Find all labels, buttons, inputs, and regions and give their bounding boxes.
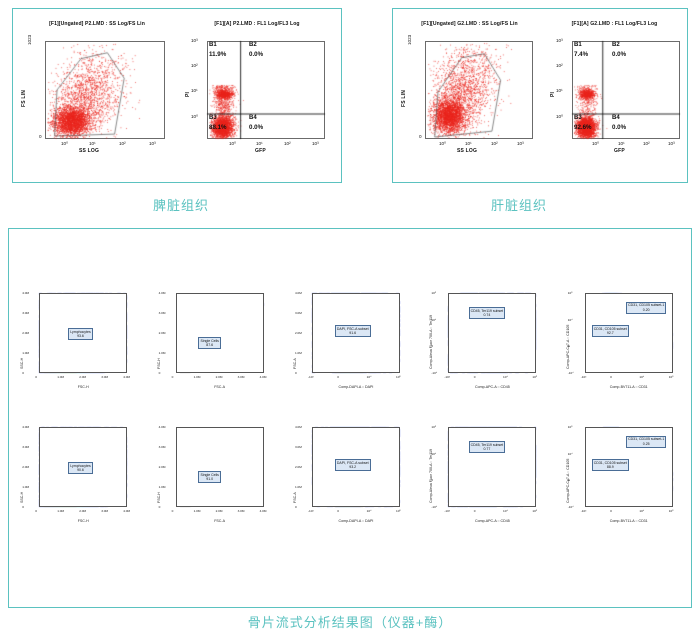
bone-chip-plot: -10³010⁴10⁵01.0M2.0M3.0M4.0MComp-DAPI-A … bbox=[290, 287, 410, 395]
quadrant-value-b1: 7.4% bbox=[574, 51, 588, 58]
gate-stat-box: Lymphocytes90.6 bbox=[68, 462, 93, 474]
y-axis-label: Comp-APC-Cy7-A :: CD105 bbox=[566, 325, 570, 369]
y-tick: 0 bbox=[22, 505, 24, 509]
y-axis-label: PI bbox=[550, 92, 556, 97]
x-tick: 4.0M bbox=[123, 375, 130, 379]
plot-spleen-quadrant: [F1][A] P2.LMD : FL1 Log/FL3 Log 10³ 10²… bbox=[177, 15, 337, 178]
x-tick: 10⁰ bbox=[592, 141, 599, 147]
y-tick: 3.0M bbox=[22, 311, 29, 315]
caption-liver: 肝脏组织 bbox=[350, 195, 688, 214]
x-tick: 10⁵ bbox=[396, 509, 401, 513]
y-tick: 2.0M bbox=[295, 465, 302, 469]
y-axis-label: FSC-A bbox=[293, 492, 297, 503]
y-tick: 10² bbox=[191, 63, 198, 68]
y-axis-label: FSC-H bbox=[157, 358, 161, 369]
x-tick: 10² bbox=[119, 141, 126, 146]
x-tick: 2.0M bbox=[216, 375, 223, 379]
bone-chip-plot: -10³010⁴10⁵-10⁴010⁴10⁵Comp-BV711-A :: CD… bbox=[563, 287, 683, 395]
bone-chip-plot: 01.0M2.0M3.0M4.0M01.0M2.0M3.0M4.0MFSC-AF… bbox=[154, 421, 274, 529]
plot-title: [F1][A] P2.LMD : FL1 Log/FL3 Log bbox=[177, 21, 337, 27]
bone-chip-plot: -10³010⁴10⁵-10⁴010⁴10⁵Comp-APC-A :: CD45… bbox=[426, 287, 546, 395]
x-tick: 10⁵ bbox=[669, 509, 674, 513]
y-tick: 1.0M bbox=[159, 485, 166, 489]
y-tick: 2.0M bbox=[22, 331, 29, 335]
y-tick: 10³ bbox=[191, 38, 198, 43]
bone-chip-plot: 01.0M2.0M3.0M4.0M01.0M2.0M3.0M4.0MFSC-HS… bbox=[17, 421, 137, 529]
gate-stat-box: DAPI, FSC-A subset91.6 bbox=[335, 325, 371, 337]
x-tick: 10² bbox=[643, 141, 650, 146]
x-tick: 4.0M bbox=[260, 509, 267, 513]
y-tick: -10⁴ bbox=[568, 505, 574, 509]
y-tick: 0 bbox=[419, 134, 422, 139]
y-tick: 4.0M bbox=[159, 425, 166, 429]
gate-stat-box: CD31, CD105 subset92.7 bbox=[592, 325, 629, 337]
x-tick: 0 bbox=[35, 509, 37, 513]
y-tick: 0 bbox=[295, 505, 297, 509]
quadrant-value-b2: 0.0% bbox=[612, 51, 626, 58]
quadrant-value-b4: 0.0% bbox=[249, 124, 263, 131]
x-axis-label: FSC-H bbox=[39, 385, 127, 389]
gate-value: 90.6 bbox=[77, 468, 84, 472]
x-tick: 4.0M bbox=[123, 509, 130, 513]
y-tick: 10⁴ bbox=[568, 452, 573, 456]
y-tick: 10⁰ bbox=[556, 114, 563, 120]
quadrant-value-b3: 92.6% bbox=[574, 124, 592, 131]
y-axis-label: Comp-APC-Cy7-A :: CD105 bbox=[566, 459, 570, 503]
x-tick: 10⁰ bbox=[439, 141, 446, 147]
plot-title: [F1][Ungated] G2.LMD : SS Log/FS Lin bbox=[397, 21, 542, 27]
plot-frame bbox=[176, 293, 264, 373]
quadrant-value-b2: 0.0% bbox=[249, 51, 263, 58]
y-tick: 1023 bbox=[27, 35, 32, 45]
x-axis-label: FSC-A bbox=[176, 385, 264, 389]
gate-value: 87.6 bbox=[206, 343, 213, 347]
gate-stat-box: Lymphocytes93.6 bbox=[68, 328, 93, 340]
x-axis-label: SS LOG bbox=[457, 148, 477, 154]
x-tick: 1.0M bbox=[57, 509, 64, 513]
quadrant-value-b3: 88.1% bbox=[209, 124, 227, 131]
x-tick: 3.0M bbox=[101, 509, 108, 513]
quadrant-name-b3: B3 bbox=[209, 115, 217, 121]
x-tick: 10⁵ bbox=[532, 509, 537, 513]
x-tick: 4.0M bbox=[260, 375, 267, 379]
y-tick: 4.0M bbox=[22, 291, 29, 295]
x-tick: -10³ bbox=[581, 375, 587, 379]
y-tick: 10¹ bbox=[191, 88, 198, 93]
gate-value: 93.2 bbox=[349, 465, 356, 469]
y-tick: 4.0M bbox=[159, 291, 166, 295]
y-tick: 4.0M bbox=[295, 291, 302, 295]
plot-frame bbox=[448, 293, 536, 373]
gate-value: 0.20 bbox=[643, 308, 650, 312]
x-tick: 10³ bbox=[312, 141, 319, 146]
bone-chip-plot: 01.0M2.0M3.0M4.0M01.0M2.0M3.0M4.0MFSC-AF… bbox=[154, 287, 274, 395]
y-tick: 10⁵ bbox=[568, 425, 573, 429]
y-tick: 4.0M bbox=[295, 425, 302, 429]
y-tick: -10⁴ bbox=[431, 371, 437, 375]
gate-value: 88.9 bbox=[607, 465, 614, 469]
x-tick: 10³ bbox=[668, 141, 675, 146]
x-tick: -10³ bbox=[444, 375, 450, 379]
y-tick: 2.0M bbox=[295, 331, 302, 335]
top-panels-row: [F1][Ungated] P2.LMD : SS Log/FS Lin 102… bbox=[0, 0, 700, 183]
x-tick: 10⁵ bbox=[532, 375, 537, 379]
y-tick: 10⁴ bbox=[568, 318, 573, 322]
y-axis-label: PI bbox=[185, 92, 191, 97]
plot-frame bbox=[448, 427, 536, 507]
x-tick: -10³ bbox=[308, 375, 314, 379]
plot-liver-ss-fs: [F1][Ungated] G2.LMD : SS Log/FS Lin 102… bbox=[397, 15, 542, 178]
x-tick: 10⁴ bbox=[639, 375, 644, 379]
bone-chip-plot: -10³010⁴10⁵-10⁴010⁴10⁵Comp-BV711-A :: CD… bbox=[563, 421, 683, 529]
x-tick: 10¹ bbox=[618, 141, 625, 146]
panel-spleen: [F1][Ungated] P2.LMD : SS Log/FS Lin 102… bbox=[12, 8, 342, 183]
y-tick: 3.0M bbox=[159, 445, 166, 449]
y-axis-label: Comp-Alexa Fluor 700-A :: Ter119 bbox=[429, 315, 433, 369]
quadrant-name-b4: B4 bbox=[612, 115, 620, 121]
y-tick: -10⁴ bbox=[431, 505, 437, 509]
x-tick: 10¹ bbox=[89, 141, 96, 146]
x-axis-label: Comp-APC-A :: CD45 bbox=[448, 385, 536, 389]
plot-title: [F1][Ungated] P2.LMD : SS Log/FS Lin bbox=[17, 21, 177, 27]
bone-chip-panel: 01.0M2.0M3.0M4.0M01.0M2.0M3.0M4.0MFSC-HS… bbox=[8, 228, 692, 608]
x-tick: 1.0M bbox=[194, 375, 201, 379]
x-tick: 10⁵ bbox=[669, 375, 674, 379]
y-tick: 1.0M bbox=[295, 351, 302, 355]
x-axis-label: SS LOG bbox=[79, 148, 99, 154]
y-axis-label: FS LIN bbox=[401, 90, 407, 107]
x-tick: 10² bbox=[284, 141, 291, 146]
plot-frame bbox=[176, 427, 264, 507]
y-tick: 3.0M bbox=[295, 445, 302, 449]
quadrant-name-b2: B2 bbox=[612, 42, 620, 48]
quadrant-name-b4: B4 bbox=[249, 115, 257, 121]
y-axis-label: FS LIN bbox=[21, 90, 27, 107]
y-axis-label: Comp-Alexa Fluor 700-A :: Ter119 bbox=[429, 449, 433, 503]
quadrant-name-b1: B1 bbox=[574, 42, 582, 48]
y-tick: 0 bbox=[159, 371, 161, 375]
y-tick: 4.0M bbox=[22, 425, 29, 429]
quadrant-value-b1: 11.9% bbox=[209, 51, 226, 58]
plot-spleen-ss-fs: [F1][Ungated] P2.LMD : SS Log/FS Lin 102… bbox=[17, 15, 177, 178]
x-tick: 2.0M bbox=[216, 509, 223, 513]
x-tick: 0 bbox=[610, 375, 612, 379]
panel-liver: [F1][Ungated] G2.LMD : SS Log/FS Lin 102… bbox=[392, 8, 688, 183]
y-tick: 10² bbox=[556, 63, 563, 68]
caption-spleen: 脾脏组织 bbox=[12, 195, 350, 214]
gate-value: 0.25 bbox=[643, 442, 650, 446]
gate-stat-box: CD45, Ter119 subset0.74 bbox=[469, 307, 506, 319]
y-tick: 1.0M bbox=[295, 485, 302, 489]
y-tick: 10¹ bbox=[556, 88, 563, 93]
gate-value: 93.6 bbox=[77, 334, 84, 338]
x-tick: 10¹ bbox=[256, 141, 263, 146]
y-tick: 10⁵ bbox=[431, 291, 436, 295]
y-tick: 0 bbox=[39, 134, 42, 139]
y-tick: 3.0M bbox=[159, 311, 166, 315]
quadrant-name-b2: B2 bbox=[249, 42, 257, 48]
top-captions-row: 脾脏组织 肝脏组织 bbox=[0, 195, 700, 214]
quadrant-value-b4: 0.0% bbox=[612, 124, 626, 131]
x-tick: 3.0M bbox=[238, 509, 245, 513]
x-tick: 0 bbox=[474, 375, 476, 379]
bone-chip-plot: -10³010⁴10⁵01.0M2.0M3.0M4.0MComp-DAPI-A … bbox=[290, 421, 410, 529]
x-axis-label: Comp-APC-A :: CD45 bbox=[448, 519, 536, 523]
x-tick: 10⁴ bbox=[367, 375, 372, 379]
x-axis-label: Comp-BV711-A :: CD31 bbox=[585, 519, 673, 523]
gate-stat-box: CD31, CD105 subset-10.25 bbox=[626, 436, 666, 448]
x-axis-label: GFP bbox=[255, 148, 266, 154]
quadrant-name-b1: B1 bbox=[209, 42, 217, 48]
y-tick: 3.0M bbox=[22, 445, 29, 449]
x-tick: -10³ bbox=[581, 509, 587, 513]
gate-value: 0.74 bbox=[483, 313, 490, 317]
x-tick: 10³ bbox=[149, 141, 156, 146]
x-axis-label: GFP bbox=[614, 148, 625, 154]
y-tick: 2.0M bbox=[159, 465, 166, 469]
y-tick: 1023 bbox=[407, 35, 412, 45]
x-tick: 10³ bbox=[517, 141, 524, 146]
x-axis-label: FSC-H bbox=[39, 519, 127, 523]
x-tick: 2.0M bbox=[79, 375, 86, 379]
x-tick: 3.0M bbox=[101, 375, 108, 379]
x-tick: 3.0M bbox=[238, 375, 245, 379]
x-tick: 0 bbox=[172, 375, 174, 379]
x-tick: 10² bbox=[491, 141, 498, 146]
bone-chip-plot: 01.0M2.0M3.0M4.0M01.0M2.0M3.0M4.0MFSC-HS… bbox=[17, 287, 137, 395]
x-tick: 10⁴ bbox=[503, 509, 508, 513]
gate-value: 92.7 bbox=[607, 331, 614, 335]
gate-stat-box: Single Cells87.6 bbox=[198, 337, 220, 349]
y-tick: 1.0M bbox=[22, 485, 29, 489]
y-tick: 10⁵ bbox=[568, 291, 573, 295]
x-tick: 10¹ bbox=[465, 141, 472, 146]
gate-stat-box: DAPI, FSC-A subset93.2 bbox=[335, 459, 371, 471]
bone-chip-row: 01.0M2.0M3.0M4.0M01.0M2.0M3.0M4.0MFSC-HS… bbox=[9, 421, 691, 529]
gate-stat-box: CD31, CD105 subset88.9 bbox=[592, 459, 629, 471]
gate-value: 91.6 bbox=[349, 331, 356, 335]
y-tick: 0 bbox=[22, 371, 24, 375]
y-axis-label: FSC-H bbox=[157, 492, 161, 503]
x-tick: 0 bbox=[35, 375, 37, 379]
x-tick: 10⁴ bbox=[503, 375, 508, 379]
x-axis-label: FSC-A bbox=[176, 519, 264, 523]
x-axis-label: Comp-BV711-A :: CD31 bbox=[585, 385, 673, 389]
y-axis-label: SSC-H bbox=[20, 492, 24, 503]
x-tick: 0 bbox=[172, 509, 174, 513]
x-tick: 10⁴ bbox=[367, 509, 372, 513]
x-axis-label: Comp-DAPI-A :: DAPI bbox=[312, 385, 400, 389]
x-tick: 0 bbox=[337, 375, 339, 379]
x-tick: 0 bbox=[610, 509, 612, 513]
y-axis-label: SSC-H bbox=[20, 358, 24, 369]
y-tick: 3.0M bbox=[295, 311, 302, 315]
x-tick: -10³ bbox=[308, 509, 314, 513]
gate-stat-box: Single Cells91.0 bbox=[198, 471, 220, 483]
y-tick: 10⁵ bbox=[431, 425, 436, 429]
x-tick: -10³ bbox=[444, 509, 450, 513]
y-tick: 1.0M bbox=[159, 351, 166, 355]
y-tick: 10³ bbox=[556, 38, 563, 43]
gate-stat-box: CD31, CD105 subset-10.20 bbox=[626, 302, 666, 314]
x-tick: 0 bbox=[474, 509, 476, 513]
x-tick: 10⁴ bbox=[639, 509, 644, 513]
x-tick: 1.0M bbox=[194, 509, 201, 513]
y-axis-label: FSC-A bbox=[293, 358, 297, 369]
gate-value: 91.0 bbox=[206, 477, 213, 481]
x-axis-label: Comp-DAPI-A :: DAPI bbox=[312, 519, 400, 523]
y-tick: 2.0M bbox=[159, 331, 166, 335]
y-tick: 10⁰ bbox=[191, 114, 198, 120]
x-tick: 1.0M bbox=[57, 375, 64, 379]
plot-liver-quadrant: [F1][A] G2.LMD : FL1 Log/FL3 Log 10³ 10²… bbox=[542, 15, 687, 178]
bone-chip-plot: -10³010⁴10⁵-10⁴010⁴10⁵Comp-APC-A :: CD45… bbox=[426, 421, 546, 529]
x-tick: 10⁰ bbox=[61, 141, 68, 147]
x-tick: 10⁵ bbox=[396, 375, 401, 379]
gate-stat-box: CD45, Ter119 subset0.77 bbox=[469, 441, 506, 453]
gate-value: 0.77 bbox=[483, 447, 490, 451]
caption-bone-chip: 骨片流式分析结果图（仪器+酶） bbox=[0, 612, 700, 631]
x-tick: 0 bbox=[337, 509, 339, 513]
bone-chip-row: 01.0M2.0M3.0M4.0M01.0M2.0M3.0M4.0MFSC-HS… bbox=[9, 287, 691, 395]
y-tick: -10⁴ bbox=[568, 371, 574, 375]
y-tick: 0 bbox=[159, 505, 161, 509]
quadrant-name-b3: B3 bbox=[574, 115, 582, 121]
plot-title: [F1][A] G2.LMD : FL1 Log/FL3 Log bbox=[542, 21, 687, 27]
y-tick: 2.0M bbox=[22, 465, 29, 469]
bone-chip-grid: 01.0M2.0M3.0M4.0M01.0M2.0M3.0M4.0MFSC-HS… bbox=[9, 287, 691, 529]
x-tick: 10⁰ bbox=[229, 141, 236, 147]
y-tick: 1.0M bbox=[22, 351, 29, 355]
y-tick: 0 bbox=[295, 371, 297, 375]
x-tick: 2.0M bbox=[79, 509, 86, 513]
